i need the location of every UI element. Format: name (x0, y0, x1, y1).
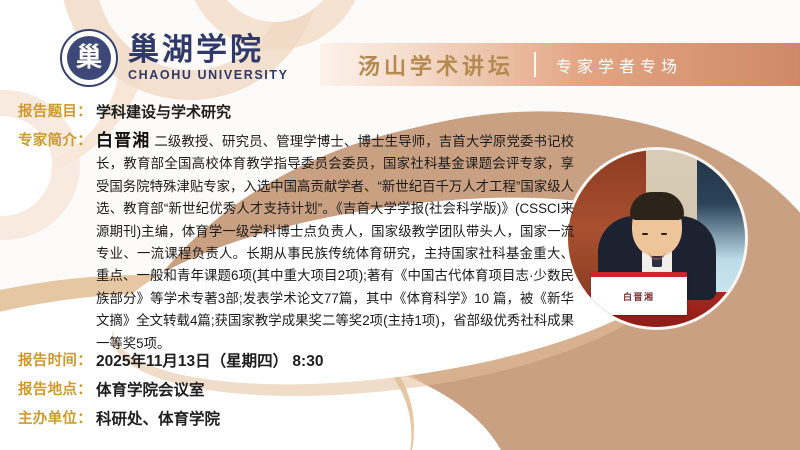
poster-header: 巢 巢湖学院 CHAOHU UNIVERSITY 汤山学术讲坛 专家学者专场 (0, 0, 800, 96)
banner-divider (534, 52, 536, 77)
speaker-bio-paragraph: 白晋湘 二级教授、研究员、管理学博士、博士生导师，吉首大学原党委书记校长，教育部… (96, 130, 574, 355)
series-banner: 汤山学术讲坛 专家学者专场 (320, 43, 800, 86)
talk-host-row: 主办单位： 科研处、体育学院 (0, 408, 800, 431)
talk-place-row: 报告地点： 体育学院会议室 (0, 379, 800, 402)
speaker-bio-block: 白晋湘 二级教授、研究员、管理学博士、博士生导师，吉首大学原党委书记校长，教育部… (96, 130, 574, 355)
university-seal-icon: 巢 (60, 29, 118, 87)
talk-place-label: 报告地点： (18, 379, 92, 402)
seal-glyph: 巢 (62, 31, 116, 85)
series-banner-title: 汤山学术讲坛 (358, 49, 514, 81)
speaker-bio-label: 专家简介： (18, 130, 92, 153)
series-banner-subtitle: 专家学者专场 (556, 53, 682, 77)
speaker-bio-row: 专家简介： 白晋湘 二级教授、研究员、管理学博士、博士生导师，吉首大学原党委书记… (0, 130, 800, 355)
poster-meta: 报告时间： 2025年11月13日（星期四） 8:30 报告地点： 体育学院会议… (0, 350, 800, 437)
talk-host-label: 主办单位： (18, 408, 92, 431)
talk-time-row: 报告时间： 2025年11月13日（星期四） 8:30 (0, 350, 800, 373)
talk-title-label: 报告题目： (18, 101, 92, 124)
university-name-cn: 巢湖学院 (128, 34, 289, 67)
university-name-block: 巢湖学院 CHAOHU UNIVERSITY (128, 34, 289, 82)
university-name-en: CHAOHU UNIVERSITY (128, 68, 289, 82)
talk-place-value: 体育学院会议室 (96, 379, 205, 402)
talk-time-label: 报告时间： (18, 350, 92, 373)
talk-time-value: 2025年11月13日（星期四） 8:30 (96, 350, 323, 373)
seminar-poster: 巢 巢湖学院 CHAOHU UNIVERSITY 汤山学术讲坛 专家学者专场 (0, 0, 800, 450)
university-brand: 巢 巢湖学院 CHAOHU UNIVERSITY (60, 29, 289, 87)
talk-title-row: 报告题目： 学科建设与学术研究 (0, 101, 800, 124)
poster-content: 报告题目： 学科建设与学术研究 专家简介： 白晋湘 二级教授、研究员、管理学博士… (0, 96, 800, 355)
speaker-bio-text: 二级教授、研究员、管理学博士、博士生导师，吉首大学原党委书记校长，教育部全国高校… (96, 134, 574, 351)
talk-title-value: 学科建设与学术研究 (96, 101, 231, 124)
talk-host-value: 科研处、体育学院 (96, 408, 220, 431)
speaker-name: 白晋湘 (96, 131, 150, 150)
